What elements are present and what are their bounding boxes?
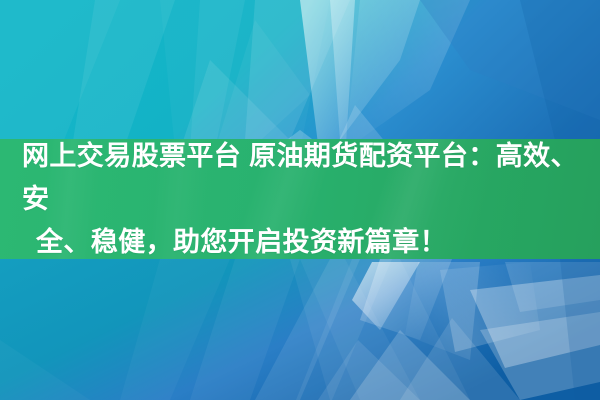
headline-line-2: 全、稳健，助您开启投资新篇章！ [22, 221, 582, 260]
headline-line-1: 网上交易股票平台 原油期货配资平台：高效、安 [22, 139, 582, 221]
green-headline-banner: 网上交易股票平台 原油期货配资平台：高效、安 全、稳健，助您开启投资新篇章！ [0, 139, 600, 259]
headline-text-block: 网上交易股票平台 原油期货配资平台：高效、安 全、稳健，助您开启投资新篇章！ [22, 139, 582, 259]
banner-image-canvas: 网上交易股票平台 原油期货配资平台：高效、安 全、稳健，助您开启投资新篇章！ [0, 0, 600, 400]
